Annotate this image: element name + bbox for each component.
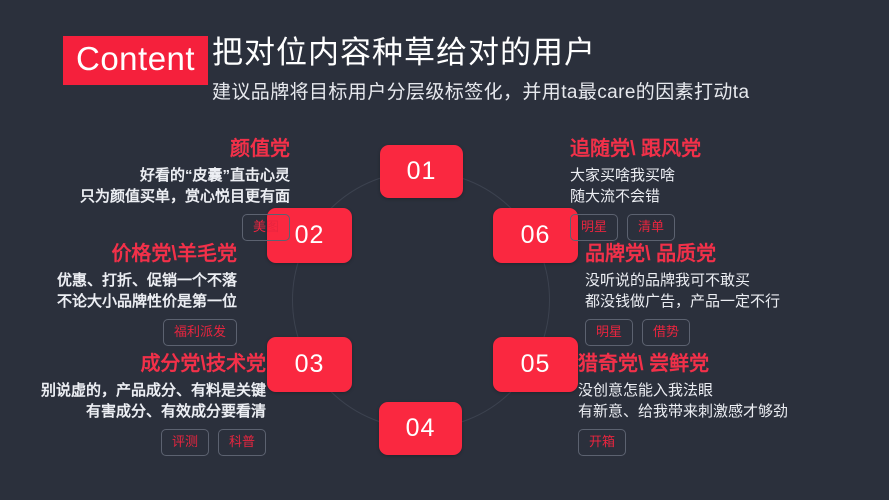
segment-block-chengfen: 成分党\技术党 别说虚的，产品成分、有料是关键 有害成分、有效成分要看清 评测 … — [0, 351, 266, 456]
step-badge-01[interactable]: 01 — [380, 145, 463, 198]
segment-tag[interactable]: 开箱 — [578, 429, 626, 456]
step-badge-03[interactable]: 03 — [267, 337, 352, 392]
segment-block-yanzhi: 颜值党 好看的“皮囊”直击心灵 只为颜值买单，赏心悦目更有面 美图 — [0, 136, 290, 241]
segment-block-lieqi: 猎奇党\ 尝鲜党 没创意怎能入我法眼 有新意、给我带来刺激感才够劲 开箱 — [578, 351, 889, 456]
segment-title: 品牌党\ 品质党 — [585, 241, 889, 267]
segment-tag[interactable]: 借势 — [642, 319, 690, 346]
segment-block-jiage: 价格党\羊毛党 优惠、打折、促销一个不落 不论大小品牌性价是第一位 福利派发 — [0, 241, 237, 346]
segment-tag-list: 明星 借势 — [585, 319, 889, 346]
segment-line: 有害成分、有效成分要看清 — [0, 401, 266, 422]
slide-canvas: Content 把对位内容种草给对的用户 建议品牌将目标用户分层级标签化，并用t… — [0, 0, 889, 500]
segment-tag-list: 评测 科普 — [0, 429, 266, 456]
segment-title: 猎奇党\ 尝鲜党 — [578, 351, 889, 377]
page-subtitle: 建议品牌将目标用户分层级标签化，并用ta最care的因素打动ta — [212, 80, 749, 106]
segment-tag-list: 开箱 — [578, 429, 889, 456]
segment-line: 优惠、打折、促销一个不落 — [0, 270, 237, 291]
segment-title: 追随党\ 跟风党 — [570, 136, 889, 162]
segment-tag[interactable]: 明星 — [585, 319, 633, 346]
segment-tag[interactable]: 福利派发 — [163, 319, 237, 346]
segment-line: 没听说的品牌我可不敢买 — [585, 270, 889, 291]
segment-block-pinpai: 品牌党\ 品质党 没听说的品牌我可不敢买 都没钱做广告，产品一定不行 明星 借势 — [585, 241, 889, 346]
slide-header: Content 把对位内容种草给对的用户 建议品牌将目标用户分层级标签化，并用t… — [0, 0, 889, 118]
segment-line: 不论大小品牌性价是第一位 — [0, 291, 237, 312]
content-badge: Content — [63, 36, 208, 85]
segment-tag[interactable]: 评测 — [161, 429, 209, 456]
segment-tag-list: 明星 清单 — [570, 214, 889, 241]
segment-title: 颜值党 — [0, 136, 290, 162]
step-badge-05[interactable]: 05 — [493, 337, 578, 392]
segment-line: 只为颜值买单，赏心悦目更有面 — [0, 186, 290, 207]
segment-tag-list: 美图 — [0, 214, 290, 241]
segment-tag[interactable]: 科普 — [218, 429, 266, 456]
page-title: 把对位内容种草给对的用户 — [212, 31, 596, 75]
segment-line: 大家买啥我买啥 — [570, 165, 889, 186]
segment-tag-list: 福利派发 — [0, 319, 237, 346]
segment-tag[interactable]: 美图 — [242, 214, 290, 241]
segment-block-zhuisui: 追随党\ 跟风党 大家买啥我买啥 随大流不会错 明星 清单 — [570, 136, 889, 241]
segment-line: 别说虚的，产品成分、有料是关键 — [0, 380, 266, 401]
step-badge-04[interactable]: 04 — [379, 402, 462, 455]
segment-line: 有新意、给我带来刺激感才够劲 — [578, 401, 889, 422]
segment-title: 价格党\羊毛党 — [0, 241, 237, 267]
segment-tag[interactable]: 清单 — [627, 214, 675, 241]
segment-tag[interactable]: 明星 — [570, 214, 618, 241]
segment-title: 成分党\技术党 — [0, 351, 266, 377]
segment-line: 好看的“皮囊”直击心灵 — [0, 165, 290, 186]
step-badge-06[interactable]: 06 — [493, 208, 578, 263]
segment-line: 都没钱做广告，产品一定不行 — [585, 291, 889, 312]
segment-line: 没创意怎能入我法眼 — [578, 380, 889, 401]
segment-line: 随大流不会错 — [570, 186, 889, 207]
